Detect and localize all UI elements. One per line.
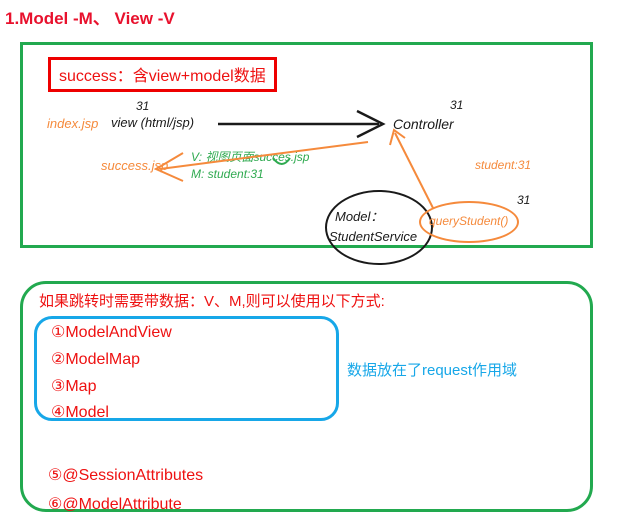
notes-heading: 如果跳转时需要带数据：V、M,则可以使用以下方式:	[39, 290, 385, 311]
page-title: 1.Model -M、 View -V	[5, 4, 175, 29]
annotation-31-query: 31	[517, 193, 530, 207]
model-ellipse-line2: StudentService	[329, 229, 417, 244]
method-item: ③Map	[51, 376, 96, 396]
methods-highlight-box: ①ModelAndView ②ModelMap ③Map ④Model	[34, 316, 339, 421]
method-item: ④Model	[51, 402, 109, 422]
notes-panel: 如果跳转时需要带数据：V、M,则可以使用以下方式: ①ModelAndView …	[20, 281, 593, 512]
success-callout-box: success：含view+model数据	[48, 57, 277, 92]
query-student-ellipse: queryStudent()	[419, 201, 519, 243]
extra-annotation-item: ⑤@SessionAttributes	[48, 465, 203, 485]
label-model-annotation: M: student:31	[191, 167, 264, 181]
model-service-ellipse: Model： StudentService	[325, 190, 433, 265]
annotation-31-view: 31	[136, 99, 149, 113]
method-item: ①ModelAndView	[51, 322, 172, 342]
extra-annotation-item: ⑥@ModelAttribute	[48, 494, 182, 514]
mvc-diagram-panel: success：含view+model数据 31 index.jsp view …	[20, 42, 593, 248]
arrow-view-to-controller	[218, 111, 383, 137]
label-index-jsp: index.jsp	[47, 116, 98, 131]
annotation-31-controller: 31	[450, 98, 463, 112]
request-scope-note: 数据放在了request作用域	[347, 359, 517, 380]
label-student-31: student:31	[475, 158, 531, 172]
label-controller: Controller	[393, 116, 454, 132]
label-view: view (html/jsp)	[111, 115, 194, 130]
label-success-jsp: success.jsp	[101, 158, 168, 173]
query-student-label: queryStudent()	[429, 214, 508, 228]
method-item: ②ModelMap	[51, 349, 140, 369]
label-view-annotation: V: 视图页面succes.jsp	[191, 148, 309, 165]
model-ellipse-line1: Model：	[335, 206, 383, 225]
